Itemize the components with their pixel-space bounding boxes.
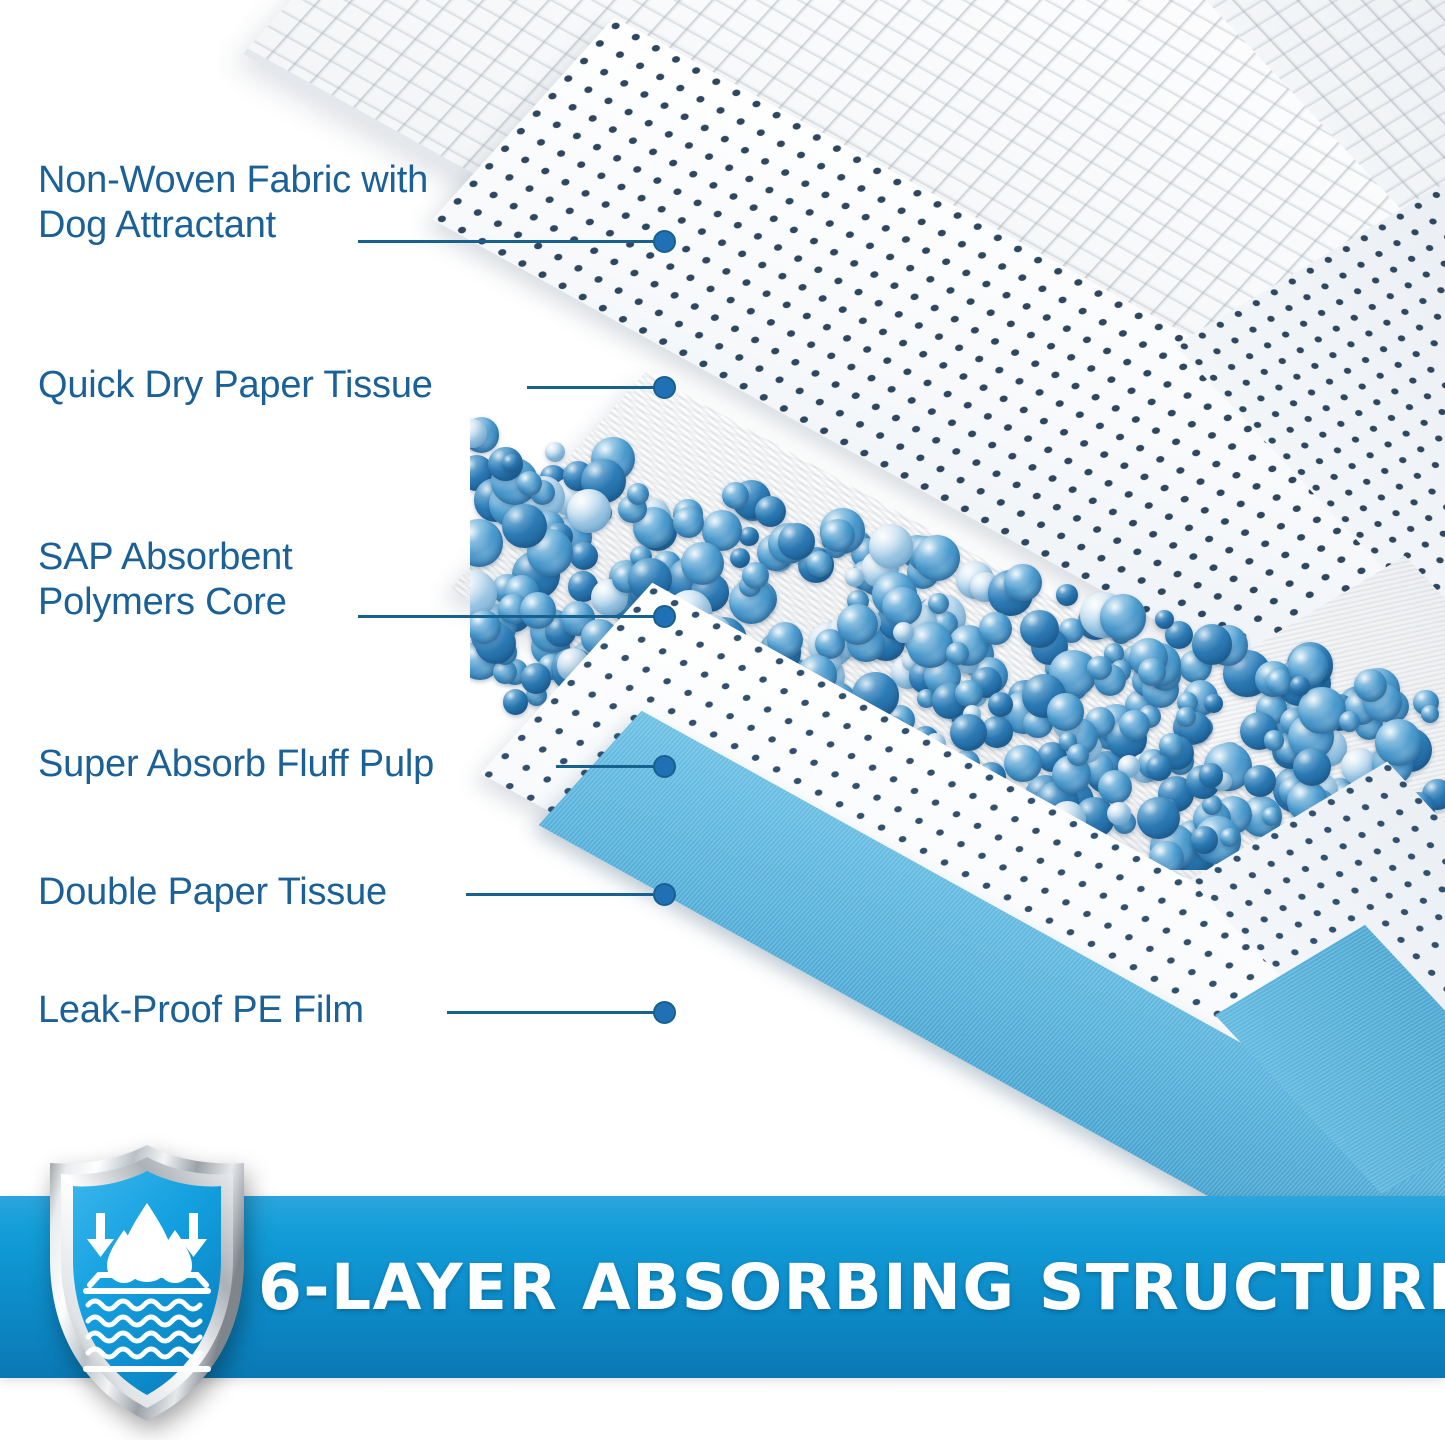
sap-bead: [914, 535, 960, 581]
waterproof-shield-icon: [28, 1139, 266, 1427]
sap-bead: [893, 622, 914, 643]
sap-bead: [570, 542, 598, 570]
sap-bead: [1155, 610, 1174, 629]
callout-quick-dry-tissue: Quick Dry Paper Tissue: [38, 363, 433, 408]
banner-headline: 6-LAYER ABSORBING STRUCTURE: [258, 1251, 1445, 1324]
leader-dot-quick-dry-tissue: [653, 376, 676, 399]
sap-bead: [928, 593, 949, 614]
sap-bead: [673, 507, 704, 538]
sap-bead: [1199, 763, 1223, 787]
leader-dot-sap-core: [653, 605, 676, 628]
callout-label-quick-dry-tissue: Quick Dry Paper Tissue: [38, 363, 433, 408]
sap-bead: [882, 587, 922, 627]
sap-bead: [837, 604, 878, 645]
leader-line-quick-dry-tissue: [527, 386, 663, 389]
sap-bead: [681, 542, 724, 585]
sap-bead: [567, 489, 611, 533]
sap-bead: [946, 642, 969, 665]
sap-bead: [739, 527, 758, 546]
callout-non-woven-fabric: Non-Woven Fabric with Dog Attractant: [38, 158, 428, 248]
sap-bead: [517, 471, 542, 496]
sap-bead: [1354, 669, 1387, 702]
sap-bead: [1244, 765, 1276, 797]
callout-label-non-woven-fabric: Non-Woven Fabric with Dog Attractant: [38, 158, 428, 248]
sap-bead: [502, 454, 520, 472]
sap-bead: [520, 592, 556, 628]
sap-bead: [1047, 693, 1085, 731]
sap-bead: [1087, 656, 1111, 680]
sap-bead: [1098, 770, 1132, 804]
sap-bead: [1020, 610, 1059, 649]
sap-bead: [1100, 594, 1146, 640]
leader-line-double-tissue: [466, 893, 663, 896]
sap-bead: [821, 519, 854, 552]
sap-bead: [907, 622, 953, 668]
sap-bead: [1176, 707, 1195, 726]
leader-line-pe-film: [447, 1011, 663, 1014]
sap-bead: [979, 612, 1012, 645]
callout-label-fluff-pulp: Super Absorb Fluff Pulp: [38, 742, 434, 787]
sap-bead: [470, 519, 503, 567]
sap-bead: [1107, 802, 1130, 825]
leader-line-fluff-pulp: [556, 765, 663, 768]
sap-bead: [742, 562, 769, 589]
sap-bead: [1137, 797, 1180, 840]
sap-bead: [1262, 807, 1281, 826]
leader-dot-non-woven-fabric: [653, 230, 676, 253]
callout-fluff-pulp: Super Absorb Fluff Pulp: [38, 742, 434, 787]
sap-bead: [1421, 705, 1439, 723]
sap-bead: [1119, 710, 1149, 740]
callout-sap-core: SAP Absorbent Polymers Core: [38, 535, 292, 625]
leader-dot-double-tissue: [653, 883, 676, 906]
sap-bead: [503, 689, 528, 714]
sap-bead: [1004, 564, 1041, 601]
sap-bead: [869, 524, 913, 568]
leader-line-non-woven-fabric: [358, 240, 663, 243]
leader-line-sap-core: [358, 615, 663, 618]
callout-label-double-tissue: Double Paper Tissue: [38, 870, 387, 915]
callout-label-sap-core: SAP Absorbent Polymers Core: [38, 535, 292, 625]
sap-bead: [1138, 658, 1166, 686]
sap-bead: [1293, 748, 1331, 786]
sap-bead: [755, 496, 786, 527]
leader-dot-pe-film: [653, 1001, 676, 1024]
callout-double-tissue: Double Paper Tissue: [38, 870, 387, 915]
leader-dot-fluff-pulp: [653, 755, 676, 778]
sap-bead: [1056, 584, 1077, 605]
sap-bead: [1192, 624, 1232, 664]
sap-bead: [950, 714, 987, 751]
infographic-canvas: Non-Woven Fabric with Dog Attractant Qui…: [0, 0, 1445, 1440]
sap-bead: [627, 483, 649, 505]
callout-label-pe-film: Leak-Proof PE Film: [38, 988, 364, 1033]
sap-bead: [807, 551, 833, 577]
sap-bead: [1191, 826, 1219, 854]
sap-bead: [1204, 694, 1223, 713]
sap-bead: [521, 663, 552, 694]
sap-bead: [988, 692, 1013, 717]
sap-bead: [722, 482, 749, 509]
sap-bead: [1159, 733, 1184, 758]
sap-bead: [1067, 744, 1088, 765]
sap-bead: [545, 442, 565, 462]
sap-bead: [1375, 719, 1422, 766]
callout-pe-film: Leak-Proof PE Film: [38, 988, 364, 1033]
sap-bead: [502, 504, 547, 549]
